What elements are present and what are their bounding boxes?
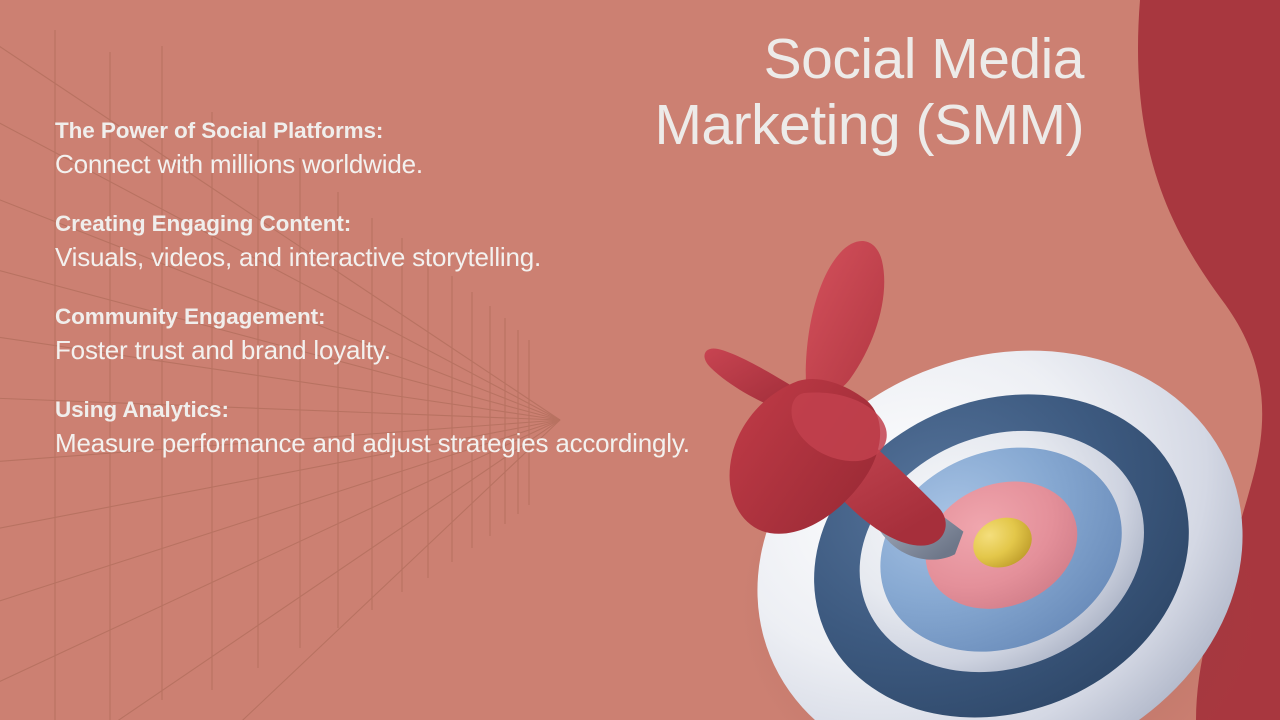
bullet-list: The Power of Social Platforms: Connect w…: [55, 116, 715, 463]
bullet-item-1: The Power of Social Platforms: Connect w…: [55, 116, 715, 183]
bullet-item-2: Creating Engaging Content: Visuals, vide…: [55, 209, 715, 276]
bullet-heading-4: Using Analytics:: [55, 395, 715, 425]
bullet-item-4: Using Analytics: Measure performance and…: [55, 395, 715, 462]
slide-canvas: Social Media Marketing (SMM) The Power o…: [0, 0, 1280, 720]
dart-target-svg: [700, 215, 1280, 720]
bullet-heading-3: Community Engagement:: [55, 302, 715, 332]
dart-fin-upper: [806, 241, 884, 394]
bullet-item-3: Community Engagement: Foster trust and b…: [55, 302, 715, 369]
bullet-body-3: Foster trust and brand loyalty.: [55, 332, 715, 369]
bullet-heading-2: Creating Engaging Content:: [55, 209, 715, 239]
bullet-heading-1: The Power of Social Platforms:: [55, 116, 715, 146]
dart-target-illustration: [700, 215, 1280, 720]
title-line-1: Social Media: [464, 26, 1084, 92]
bullet-body-4: Measure performance and adjust strategie…: [55, 425, 715, 462]
bullet-body-2: Visuals, videos, and interactive storyte…: [55, 239, 715, 276]
bullet-body-1: Connect with millions worldwide.: [55, 146, 715, 183]
